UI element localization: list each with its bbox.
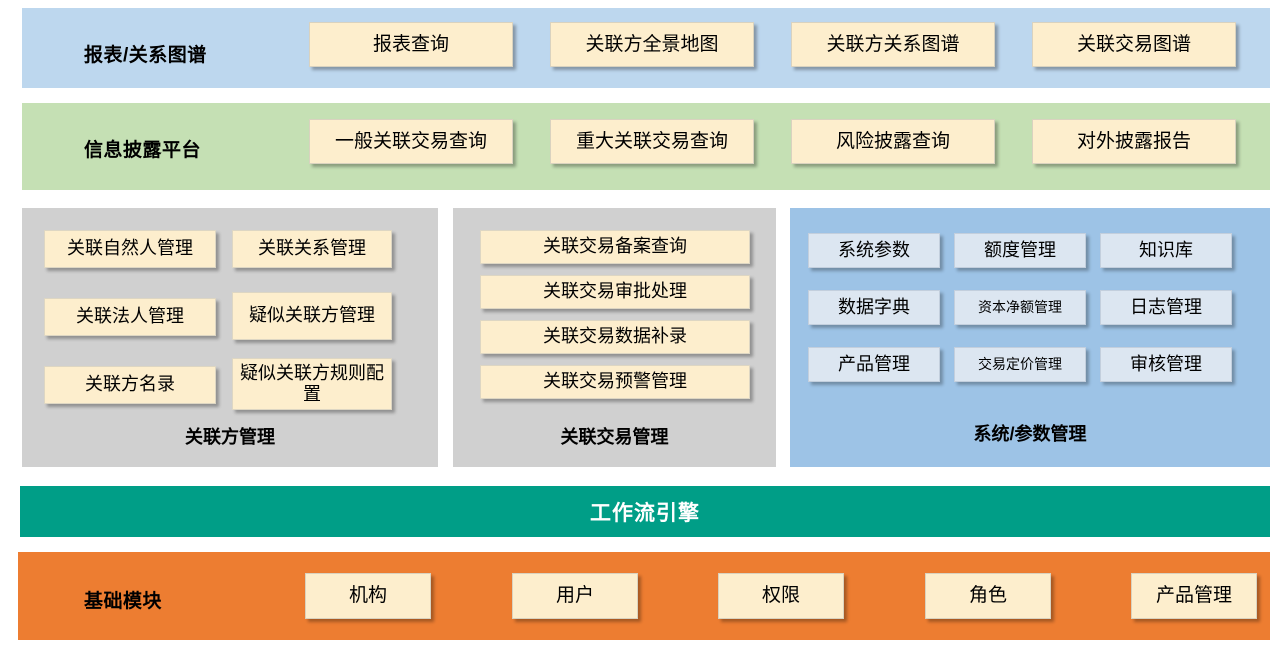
tile-system-parameters[interactable]: 系统参数: [808, 233, 940, 268]
button-related-party-panorama-map[interactable]: 关联方全景地图: [550, 22, 754, 67]
button-external-disclosure-report[interactable]: 对外披露报告: [1032, 119, 1236, 164]
band-information-disclosure: 信息披露平台 一般关联交易查询 重大关联交易查询 风险披露查询 对外披露报告: [22, 103, 1270, 190]
tile-transaction-pricing-management[interactable]: 交易定价管理: [954, 347, 1086, 382]
tile-net-capital-management[interactable]: 资本净额管理: [954, 290, 1086, 325]
panel-system-parameter-management-title: 系统/参数管理: [790, 420, 1270, 446]
tile-suspected-related-party-management[interactable]: 疑似关联方管理: [232, 292, 392, 340]
tile-related-transaction-filing-query[interactable]: 关联交易备案查询: [480, 230, 750, 264]
button-report-query[interactable]: 报表查询: [309, 22, 513, 67]
tile-related-transaction-approval-processing[interactable]: 关联交易审批处理: [480, 275, 750, 309]
band-base-module: 基础模块 机构 用户 权限 角色 产品管理: [18, 552, 1270, 640]
panel-system-parameter-management: 系统参数 额度管理 知识库 数据字典 资本净额管理 日志管理 产品管理 交易定价…: [790, 208, 1270, 467]
tile-related-relationship-management[interactable]: 关联关系管理: [232, 230, 392, 268]
tile-audit-management[interactable]: 审核管理: [1100, 347, 1232, 382]
button-role[interactable]: 角色: [925, 573, 1051, 619]
panel-related-party-management-title: 关联方管理: [22, 423, 438, 449]
button-product-management[interactable]: 产品管理: [1131, 573, 1257, 619]
button-user[interactable]: 用户: [512, 573, 638, 619]
tile-data-dictionary[interactable]: 数据字典: [808, 290, 940, 325]
tile-knowledge-base[interactable]: 知识库: [1100, 233, 1232, 268]
panel-related-transaction-management: 关联交易备案查询 关联交易审批处理 关联交易数据补录 关联交易预警管理 关联交易…: [453, 208, 776, 467]
button-related-party-relation-graph[interactable]: 关联方关系图谱: [791, 22, 995, 67]
band-report-graph: 报表/关系图谱 报表查询 关联方全景地图 关联方关系图谱 关联交易图谱: [22, 8, 1270, 88]
tile-related-party-directory[interactable]: 关联方名录: [44, 366, 216, 404]
tile-product-management[interactable]: 产品管理: [808, 347, 940, 382]
button-organization[interactable]: 机构: [305, 573, 431, 619]
band-report-graph-label: 报表/关系图谱: [84, 40, 207, 67]
button-permission[interactable]: 权限: [718, 573, 844, 619]
tile-related-natural-person-management[interactable]: 关联自然人管理: [44, 230, 216, 268]
band-workflow-engine: 工作流引擎: [20, 486, 1270, 537]
band-base-module-label: 基础模块: [84, 586, 162, 613]
tile-related-legal-person-management[interactable]: 关联法人管理: [44, 298, 216, 336]
button-related-transaction-graph[interactable]: 关联交易图谱: [1032, 22, 1236, 67]
button-risk-disclosure-query[interactable]: 风险披露查询: [791, 119, 995, 164]
tile-related-transaction-alert-management[interactable]: 关联交易预警管理: [480, 365, 750, 399]
panel-related-party-management: 关联自然人管理 关联关系管理 关联法人管理 疑似关联方管理 关联方名录 疑似关联…: [22, 208, 438, 467]
tile-related-transaction-data-supplement[interactable]: 关联交易数据补录: [480, 320, 750, 354]
tile-suspected-related-party-rule-config[interactable]: 疑似关联方规则配置: [232, 358, 392, 410]
tile-quota-management[interactable]: 额度管理: [954, 233, 1086, 268]
band-information-disclosure-label: 信息披露平台: [84, 135, 201, 162]
band-workflow-engine-label: 工作流引擎: [590, 497, 700, 527]
button-major-related-transaction-query[interactable]: 重大关联交易查询: [550, 119, 754, 164]
button-general-related-transaction-query[interactable]: 一般关联交易查询: [309, 119, 513, 164]
tile-log-management[interactable]: 日志管理: [1100, 290, 1232, 325]
panel-related-transaction-management-title: 关联交易管理: [453, 423, 776, 449]
